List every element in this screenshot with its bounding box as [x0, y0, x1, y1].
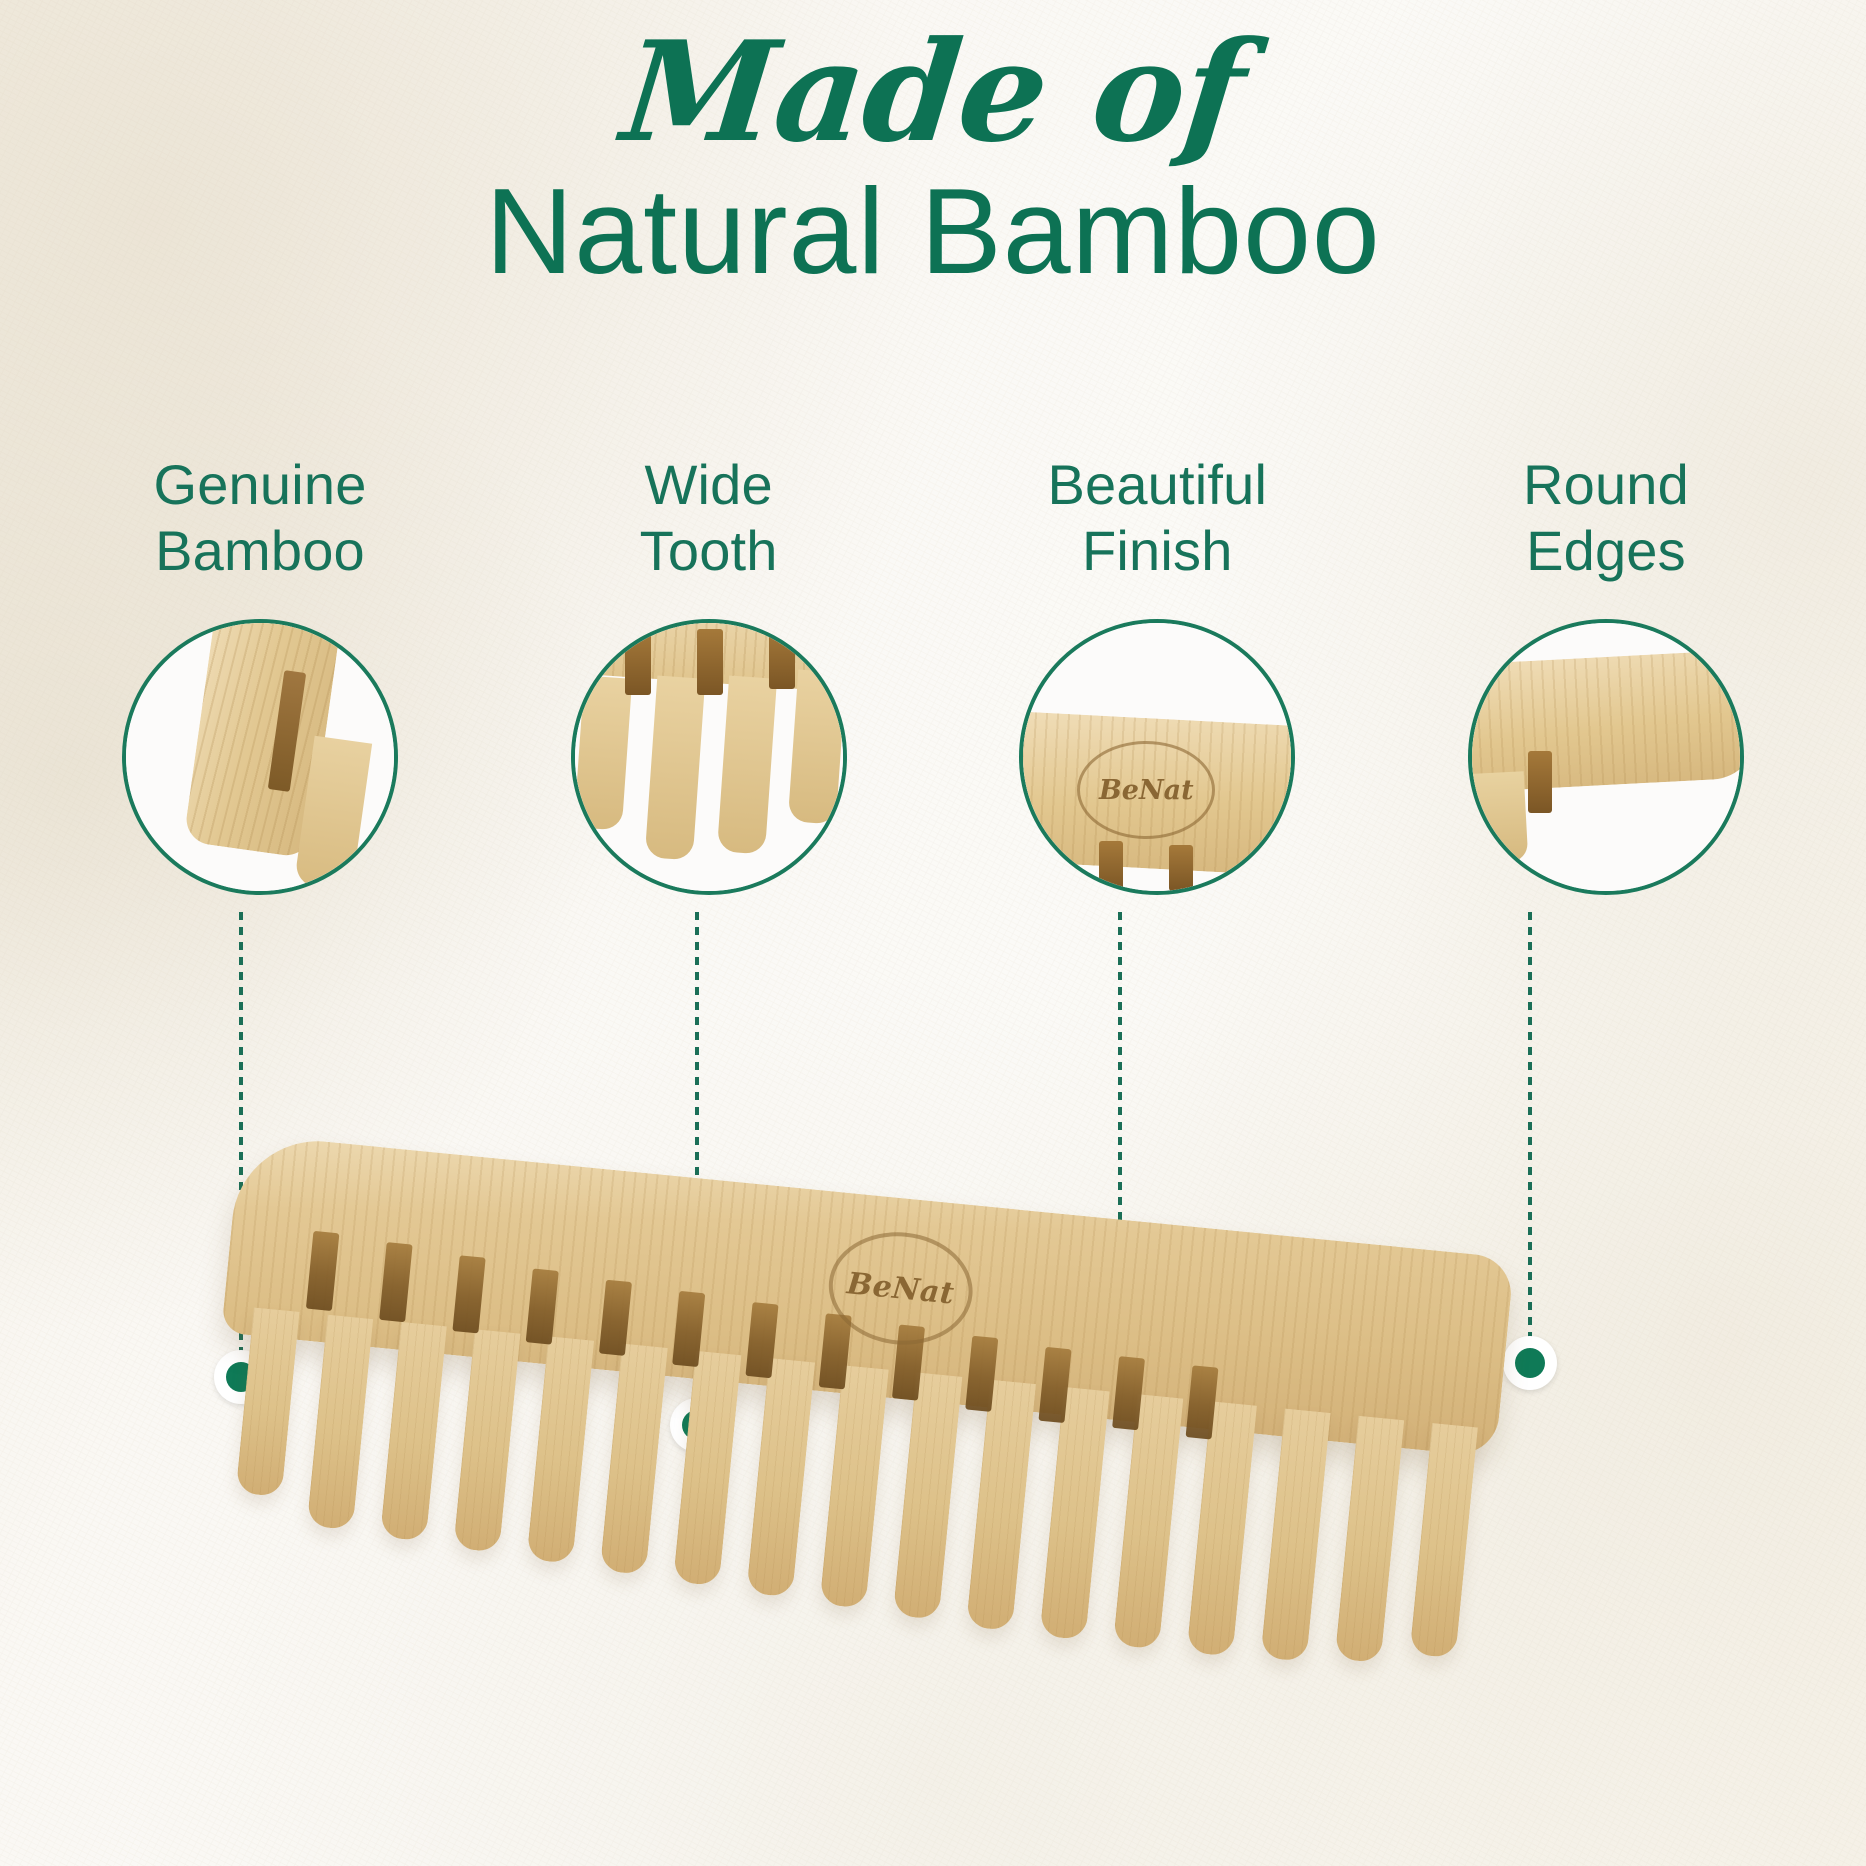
feature-label-round-edges: Round Edges — [1523, 452, 1689, 583]
comb-tooth — [673, 1351, 741, 1586]
infographic-canvas: Made of Natural Bamboo Genuine Bamboo Wi… — [0, 0, 1866, 1866]
feature-columns: Genuine Bamboo Wide Tooth — [60, 452, 1806, 1012]
feature-label-beautiful-finish: Beautiful Finish — [1047, 452, 1267, 583]
title-sans-line: Natural Bamboo — [0, 167, 1866, 296]
comb-wide-teeth-circle — [571, 619, 847, 895]
feature-label-line1: Beautiful — [1047, 453, 1267, 516]
feature-label-line1: Genuine — [153, 453, 366, 516]
feature-column-genuine-bamboo[interactable]: Genuine Bamboo — [60, 452, 460, 1012]
comb-tooth — [453, 1329, 520, 1552]
comb-tooth-closeup-circle — [122, 619, 398, 895]
comb-tooth — [1187, 1401, 1257, 1656]
title-script-line: Made of — [616, 22, 1250, 163]
feature-label-line1: Round — [1523, 453, 1689, 516]
feature-label-genuine-bamboo: Genuine Bamboo — [153, 452, 366, 583]
page-title: Made of Natural Bamboo — [0, 22, 1866, 296]
feature-label-line2: Tooth — [640, 518, 778, 584]
feature-label-line2: Finish — [1047, 518, 1267, 584]
comb-tooth — [1335, 1416, 1405, 1663]
feature-label-wide-tooth: Wide Tooth — [640, 452, 778, 583]
feature-column-beautiful-finish[interactable]: Beautiful Finish BeNat — [957, 452, 1357, 1012]
comb-tooth — [600, 1344, 668, 1575]
comb-tooth — [1409, 1423, 1477, 1658]
comb-tooth — [746, 1358, 815, 1597]
comb-tooth — [966, 1380, 1036, 1631]
feature-label-line2: Bamboo — [153, 518, 366, 584]
comb-tooth — [380, 1322, 447, 1541]
comb-tooth — [820, 1365, 889, 1608]
comb-tooth — [526, 1336, 594, 1563]
comb-tooth — [1039, 1387, 1109, 1640]
feature-column-wide-tooth[interactable]: Wide Tooth — [509, 452, 909, 1012]
comb-tooth — [893, 1372, 963, 1619]
comb-tooth — [307, 1315, 373, 1530]
product-comb-image: BeNat — [190, 1092, 1658, 1788]
brand-engraving-circle: BeNat — [1099, 775, 1194, 806]
feature-label-line2: Edges — [1523, 518, 1689, 584]
comb-tooth — [236, 1307, 300, 1497]
comb-round-edge-circle — [1468, 619, 1744, 895]
comb-tooth — [1260, 1409, 1330, 1662]
comb-tooth — [1113, 1394, 1183, 1649]
brand-logo-text: BeNat — [845, 1266, 956, 1311]
comb-logo-finish-circle: BeNat — [1019, 619, 1295, 895]
feature-column-round-edges[interactable]: Round Edges — [1406, 452, 1806, 1012]
feature-label-line1: Wide — [644, 453, 772, 516]
